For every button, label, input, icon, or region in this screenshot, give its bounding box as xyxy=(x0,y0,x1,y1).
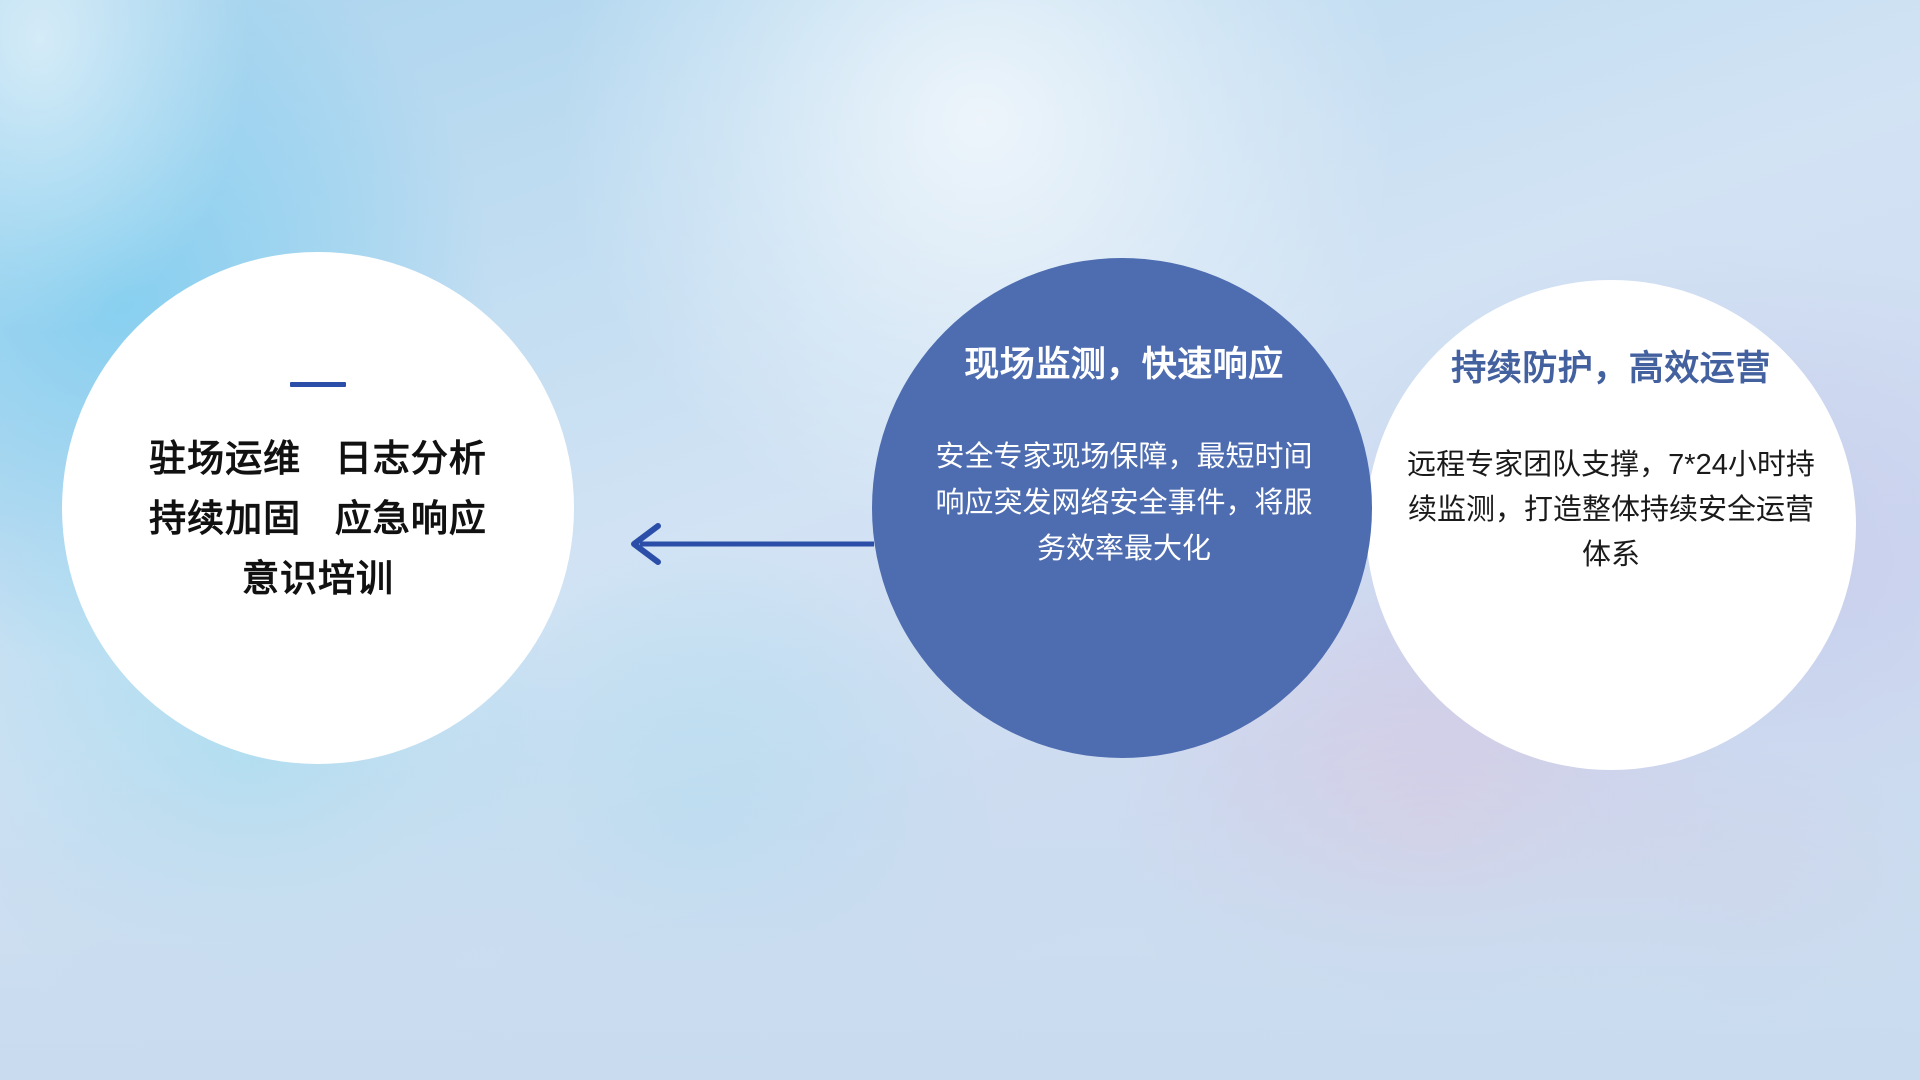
right-circle-content: 持续防护，高效运营 远程专家团队支撑，7*24小时持续监测，打造整体持续安全运营… xyxy=(1382,340,1840,579)
right-circle[interactable]: 持续防护，高效运营 远程专家团队支撑，7*24小时持续监测，打造整体持续安全运营… xyxy=(1366,280,1856,770)
center-circle[interactable]: 现场监测，快速响应 安全专家现场保障，最短时间响应突发网络安全事件，将服务效率最… xyxy=(872,258,1372,758)
right-circle-title: 持续防护，高效运营 xyxy=(1382,340,1840,391)
right-circle-body: 远程专家团队支撑，7*24小时持续监测，打造整体持续安全运营体系 xyxy=(1382,443,1840,579)
center-circle-content: 现场监测，快速响应 安全专家现场保障，最短时间响应突发网络安全事件，将服务效率最… xyxy=(890,336,1358,572)
slide-canvas: 驻场运维 日志分析 持续加固 应急响应 意识培训 持续防护，高效运营 远程专家团… xyxy=(0,0,1920,1080)
left-circle-line-2: 持续加固 应急响应 xyxy=(62,489,574,549)
center-circle-body: 安全专家现场保障，最短时间响应突发网络安全事件，将服务效率最大化 xyxy=(890,435,1358,572)
left-circle-line-3: 意识培训 xyxy=(62,549,574,609)
left-circle[interactable]: 驻场运维 日志分析 持续加固 应急响应 意识培训 xyxy=(62,252,574,764)
left-circle-line-1: 驻场运维 日志分析 xyxy=(62,429,574,489)
center-circle-title: 现场监测，快速响应 xyxy=(890,336,1358,387)
divider-dash-icon xyxy=(290,382,346,387)
left-circle-content: 驻场运维 日志分析 持续加固 应急响应 意识培训 xyxy=(62,382,574,609)
flow-arrow-icon xyxy=(612,514,876,574)
